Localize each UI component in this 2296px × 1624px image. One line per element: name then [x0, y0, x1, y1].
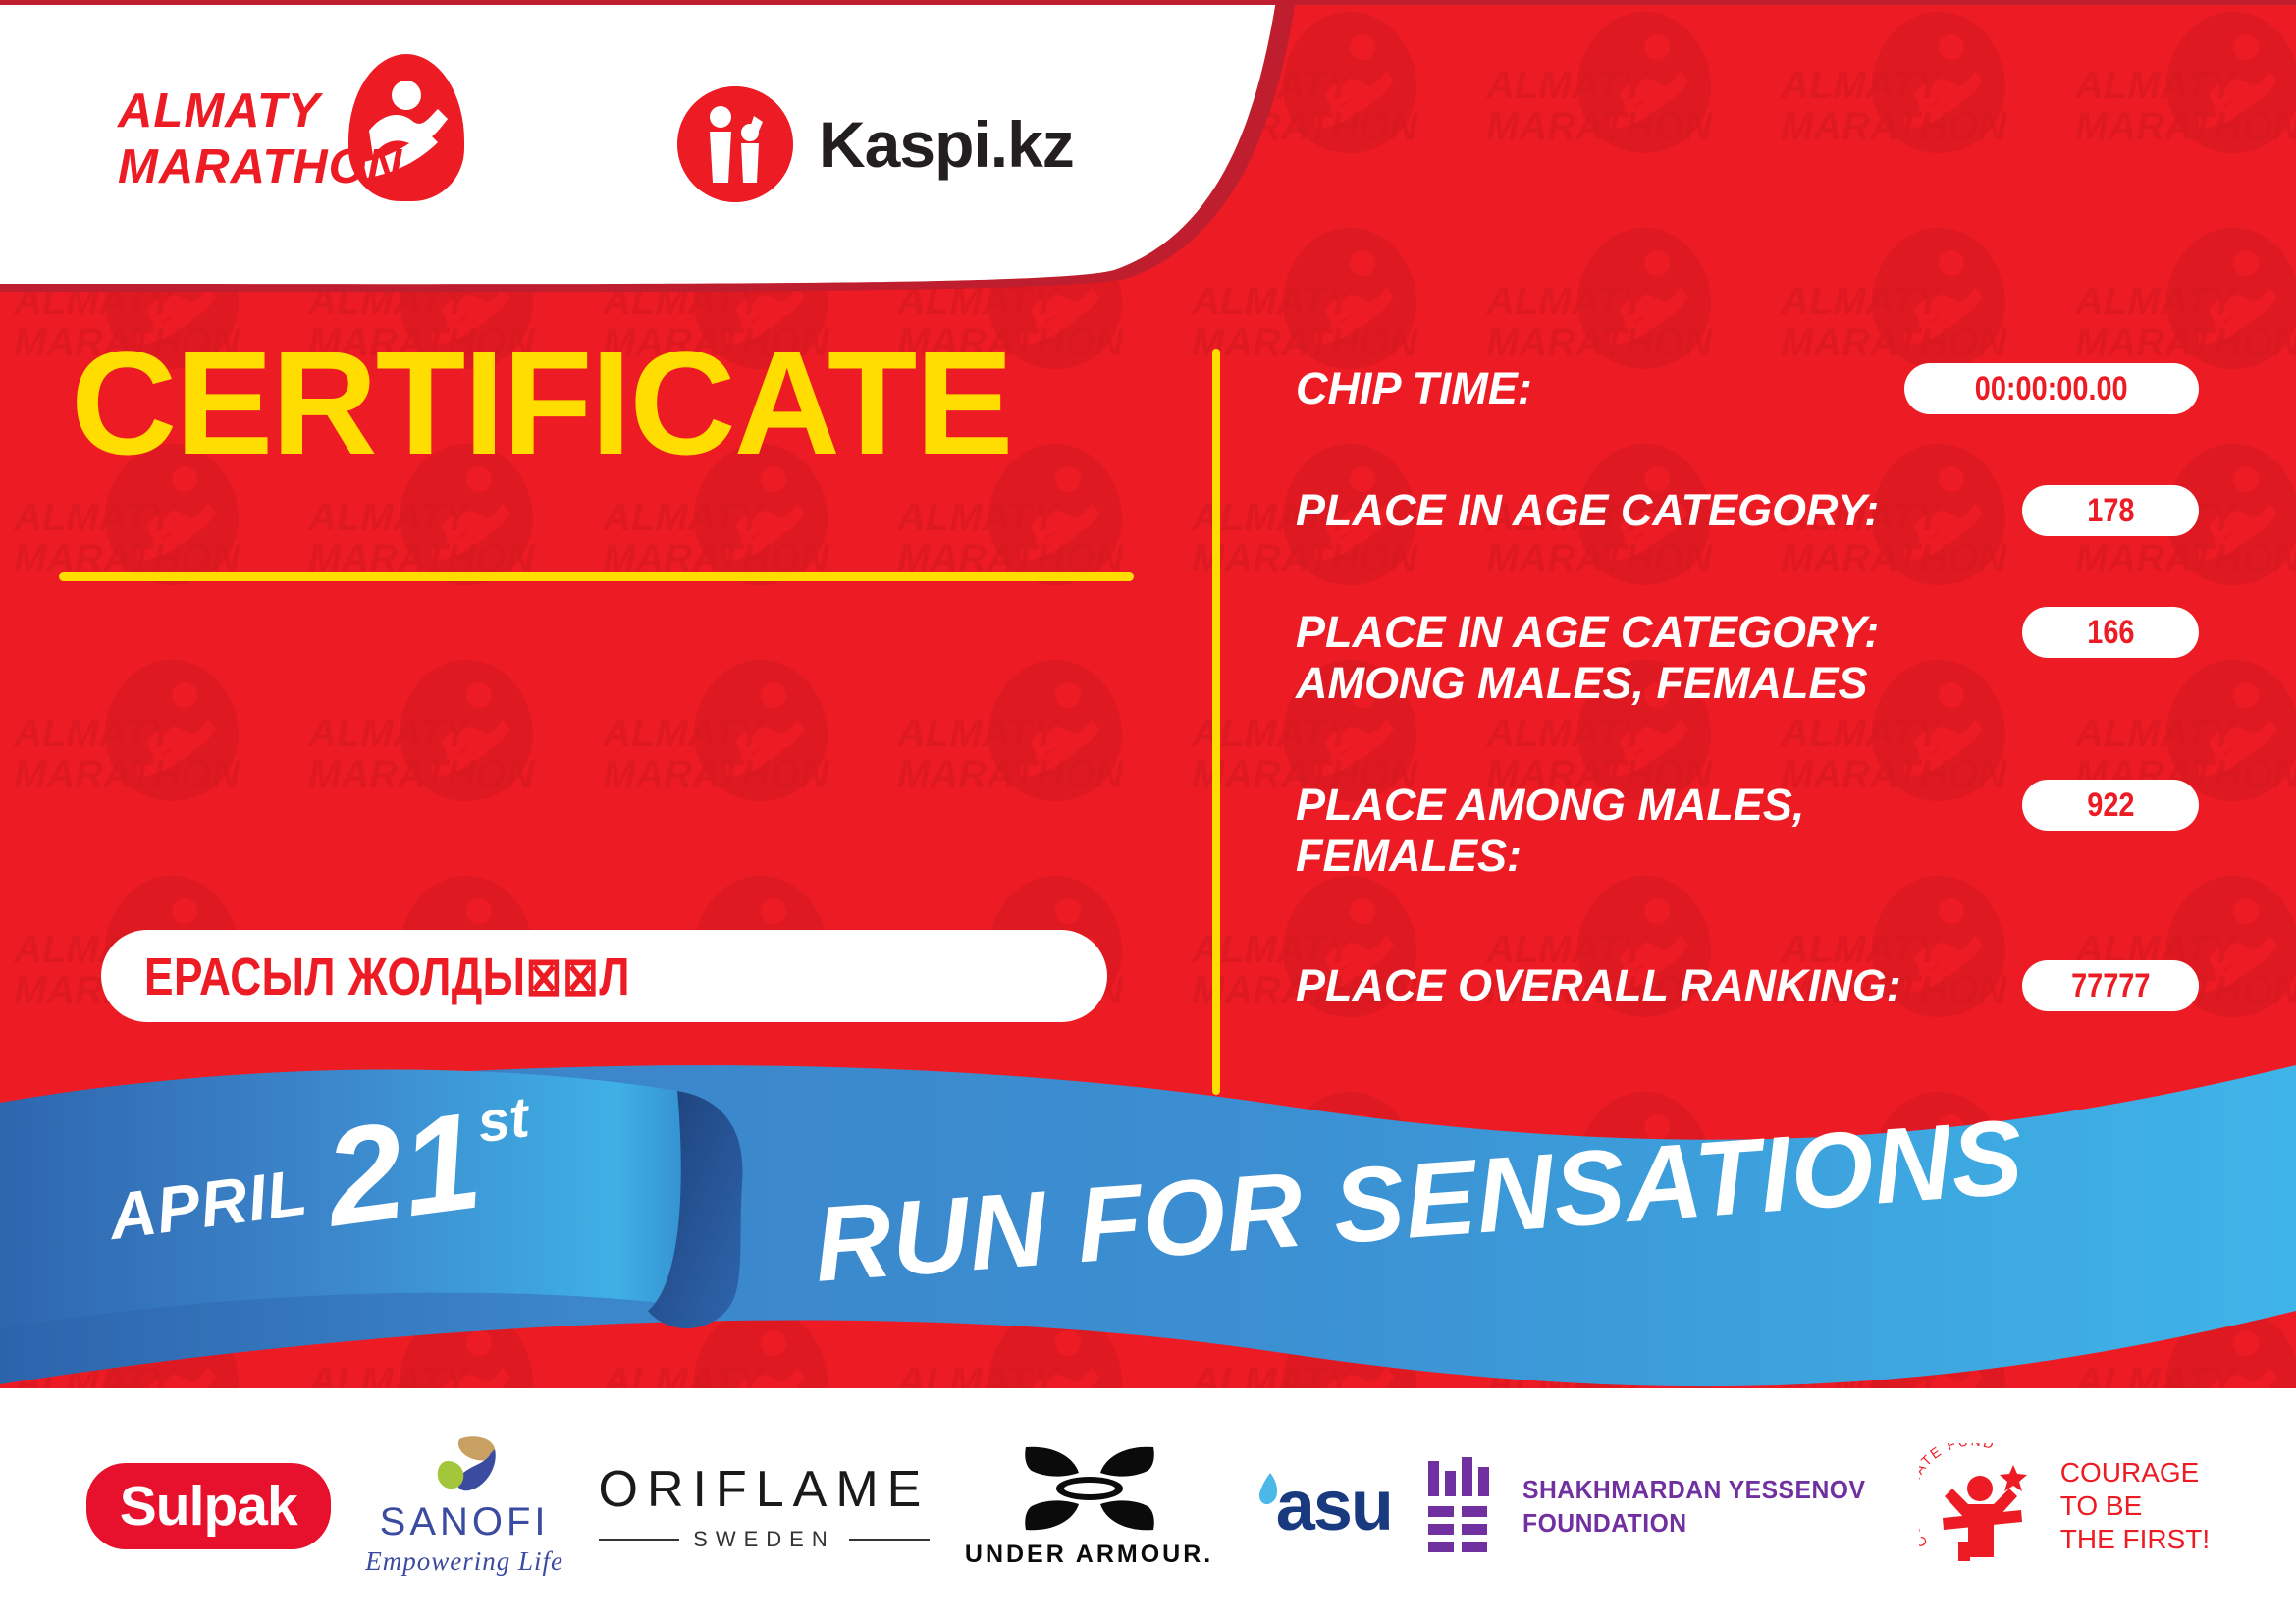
participant-name-field: ЕРАСЫЛ ЖОЛДЫ⊠⊠Л — [101, 930, 1107, 1022]
sponsor-logo-yessenov: SHAKHMARDAN YESSENOVFOUNDATION — [1426, 1457, 1884, 1555]
participant-name: ЕРАСЫЛ ЖОЛДЫ⊠⊠Л — [144, 946, 630, 1007]
event-day: 21 — [320, 1102, 487, 1236]
oriflame-wordmark: ORIFLAME — [599, 1460, 931, 1519]
sponsor-logo-sulpak: Sulpak — [86, 1463, 331, 1549]
stat-value-pill: 922 — [2022, 780, 2199, 831]
sponsor-logo-asu: asu — [1249, 1466, 1392, 1546]
sponsor-logo-oriflame: ORIFLAME SWEDEN — [599, 1460, 931, 1552]
yessenov-bars-icon — [1426, 1457, 1499, 1555]
stat-value: 00:00:00.00 — [1975, 370, 2128, 408]
under-armour-wordmark: UNDER ARMOUR. — [965, 1541, 1213, 1569]
courage-child-icon: CORPORATE FUND — [1919, 1443, 2047, 1569]
kaspi-wordmark: Kaspi.kz — [819, 107, 1074, 182]
sulpak-wordmark: Sulpak — [120, 1474, 297, 1539]
stat-value: 922 — [2087, 786, 2134, 825]
divider-left — [599, 1539, 680, 1541]
stat-label: PLACE AMONG MALES,FEMALES: — [1296, 780, 2004, 882]
top-accent-rule — [0, 0, 2296, 5]
title-underline — [59, 572, 1134, 581]
page-title: CERTIFICATE — [71, 329, 1012, 476]
stat-row: PLACE IN AGE CATEGORY:AMONG MALES, FEMAL… — [1296, 607, 2199, 709]
asu-wordmark: asu — [1276, 1466, 1392, 1546]
header-logos: ALMATYMARATHON Kaspi.kz — [0, 0, 1374, 285]
sanofi-mark-icon — [430, 1435, 499, 1496]
sanofi-tagline: Empowering Life — [365, 1546, 563, 1577]
divider-right — [849, 1539, 931, 1541]
sponsor-bar: Sulpak SANOFI Empowering Life ORIFLAME S… — [0, 1388, 2296, 1624]
stat-label: PLACE IN AGE CATEGORY: — [1296, 485, 2004, 536]
under-armour-icon — [1022, 1443, 1157, 1534]
courage-tagline: COURAGETO BETHE FIRST! — [2060, 1456, 2210, 1556]
almaty-marathon-wordmark: ALMATYMARATHON — [118, 83, 402, 195]
stat-value-pill: 00:00:00.00 — [1904, 363, 2199, 414]
stat-value: 178 — [2087, 492, 2134, 530]
stat-row: PLACE AMONG MALES,FEMALES: 922 — [1296, 780, 2199, 882]
oriflame-tagline: SWEDEN — [693, 1527, 835, 1552]
stat-value-pill: 166 — [2022, 607, 2199, 658]
certificate-canvas: ALMATY MARATHON ALMATYMARATHON — [0, 0, 2296, 1624]
almaty-line: ALMATY — [118, 84, 321, 137]
stat-row: PLACE IN AGE CATEGORY: 178 — [1296, 485, 2199, 536]
sponsor-logo-corporate-fund: CORPORATE FUND COURAGETO BETHE FIRST! — [1919, 1443, 2210, 1569]
kaspi-logo: Kaspi.kz — [677, 86, 1074, 202]
stat-label: PLACE IN AGE CATEGORY:AMONG MALES, FEMAL… — [1296, 607, 2004, 709]
stat-value-pill: 178 — [2022, 485, 2199, 536]
stat-row: CHIP TIME: 00:00:00.00 — [1296, 363, 2199, 414]
sponsor-logo-under-armour: UNDER ARMOUR. — [965, 1443, 1213, 1569]
stat-row: PLACE OVERALL RANKING: 77777 — [1296, 960, 2199, 1011]
stat-label: PLACE OVERALL RANKING: — [1296, 960, 2004, 1011]
stat-value-pill: 77777 — [2022, 960, 2199, 1011]
sanofi-wordmark: SANOFI — [380, 1500, 550, 1544]
stat-value: 166 — [2087, 614, 2134, 652]
stat-value: 77777 — [2071, 967, 2150, 1005]
marathon-line: MARATHON — [118, 140, 402, 193]
stat-label: CHIP TIME: — [1296, 363, 1887, 414]
yessenov-wordmark: SHAKHMARDAN YESSENOVFOUNDATION — [1522, 1473, 1865, 1540]
oriflame-subline: SWEDEN — [599, 1527, 931, 1552]
sponsor-logo-sanofi: SANOFI Empowering Life — [365, 1435, 563, 1577]
stats-column: CHIP TIME: 00:00:00.00 PLACE IN AGE CATE… — [1296, 363, 2199, 1011]
column-divider — [1212, 349, 1220, 1095]
kaspi-figures-icon — [677, 86, 793, 202]
almaty-marathon-logo: ALMATYMARATHON — [118, 54, 452, 206]
